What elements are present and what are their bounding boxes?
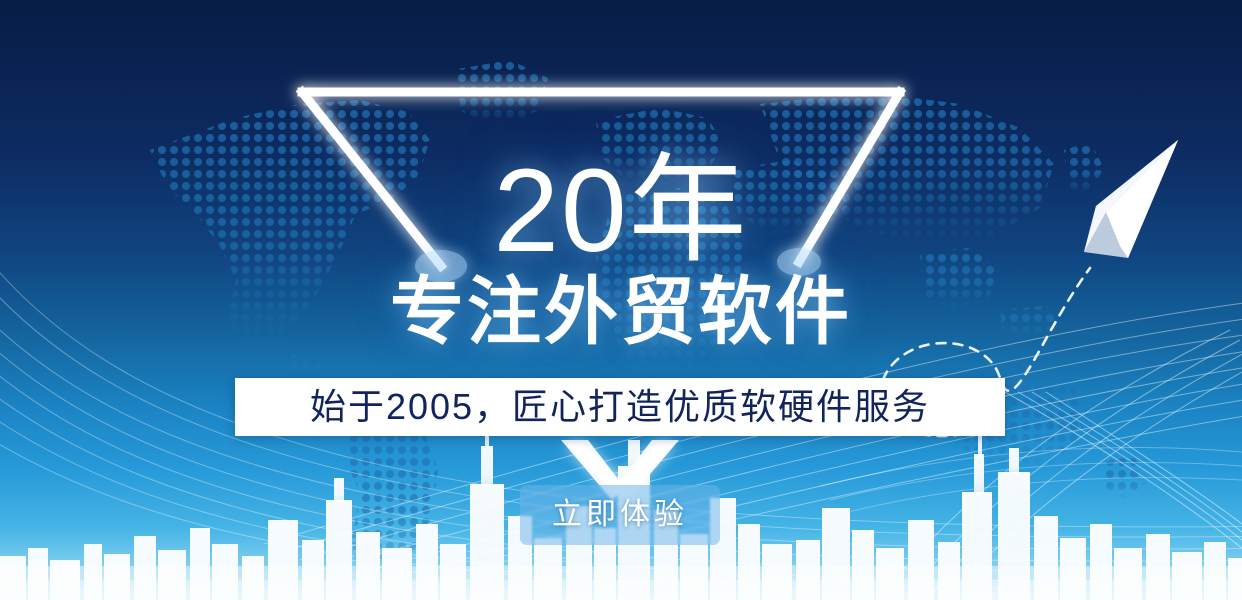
tagline-text: 始于2005，匠心打造优质软硬件服务 [310,387,930,427]
cta-experience-now-button[interactable]: 立即体验 [520,485,720,545]
promo-banner: 20年 专注外贸软件 始于2005，匠心打造优质软硬件服务 立即体验 [0,0,1242,600]
cta-label: 立即体验 [552,498,688,532]
tagline-bar: 始于2005，匠心打造优质软硬件服务 [235,378,1005,436]
